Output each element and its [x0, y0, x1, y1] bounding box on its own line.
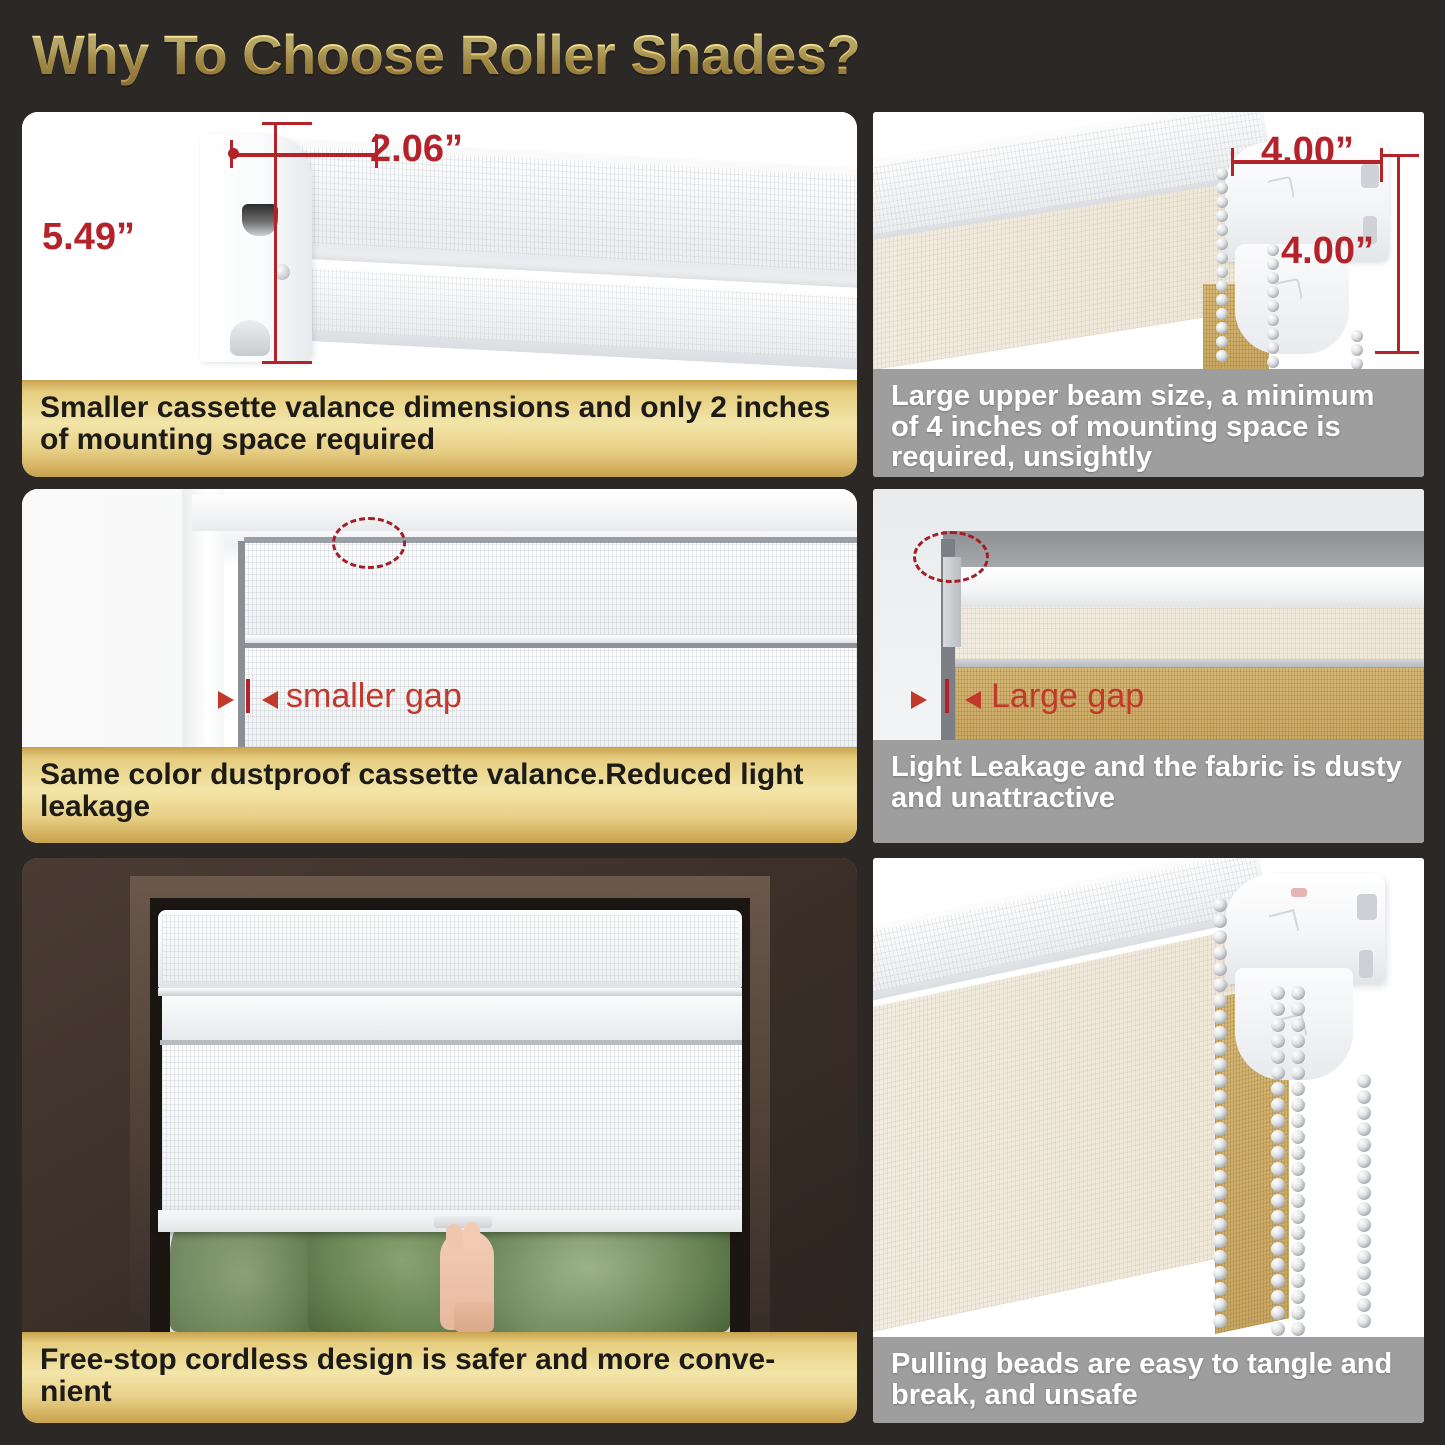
gap-label: Large gap [991, 677, 1144, 716]
bead-chain-2 [1267, 244, 1279, 369]
shade-fabric-cream [955, 607, 1424, 659]
top-shadow-band [943, 531, 1424, 569]
height-dim-line [274, 122, 277, 364]
width-dim-tick-left [1231, 148, 1234, 176]
cassette-lower-lip [244, 635, 857, 643]
panel-1-caption: Smaller cassette valance dimensions and … [22, 380, 857, 477]
gap-arrow-left-icon [911, 691, 927, 709]
bottom-rail [953, 659, 1424, 667]
panel-1: 2.06” 5.49” Smaller cassette valance dim… [22, 112, 857, 477]
panel-2: 4.00” 4.00” Large upper beam size, a min… [873, 112, 1424, 477]
bead-chain-3 [1291, 986, 1305, 1334]
panel-6-caption: Pulling beads are easy to tangle and bre… [873, 1337, 1424, 1423]
hand-finger-1 [446, 1224, 462, 1250]
cassette-face [244, 543, 857, 635]
panel-2-photo: 4.00” 4.00” [873, 112, 1424, 369]
bracket-slot-icon-2 [1359, 950, 1373, 978]
window-frame-header [192, 495, 857, 531]
panel-6: Pulling beads are easy to tangle and bre… [873, 858, 1424, 1423]
gap-marker-line [945, 679, 949, 713]
width-dimension-label: 4.00” [1261, 130, 1354, 173]
panel-5-caption: Free-stop cordless design is safer and m… [22, 1332, 857, 1423]
bracket-pink-tab-icon [1291, 888, 1307, 897]
panel-5-photo [22, 858, 857, 1332]
bracket-slot-icon-1 [1361, 164, 1379, 188]
gap-label: smaller gap [286, 677, 462, 716]
roller-tube [943, 567, 1424, 609]
panel-1-photo: 2.06” 5.49” [22, 112, 857, 380]
bead-chain-4 [1357, 1074, 1371, 1334]
bracket-lower-clip-icon [230, 320, 270, 356]
bead-chain-1 [1216, 168, 1228, 368]
height-dim-tick-bottom [1375, 351, 1419, 354]
panel-3: smaller gap Same color dustproof cassett… [22, 489, 857, 843]
panel-6-photo [873, 858, 1424, 1337]
gap-marker-line [246, 679, 250, 713]
panel-5: Free-stop cordless design is safer and m… [22, 858, 857, 1423]
infographic-page: Why To Choose Roller Shades? 2.06” [0, 0, 1445, 1445]
gap-arrow-left-icon [218, 691, 234, 709]
highlight-circle-icon [913, 531, 989, 583]
panel-4-photo: Large gap [873, 489, 1424, 740]
hand-finger-2 [464, 1222, 480, 1250]
height-dim-tick-bottom [262, 361, 312, 364]
width-dim-tick-left [230, 140, 233, 168]
bead-chain-1 [1213, 898, 1227, 1328]
panel-4: Large gap Light Leakage and the fabric i… [873, 489, 1424, 843]
gap-arrow-right-icon [262, 691, 278, 709]
shade-left-gap [238, 541, 245, 747]
width-dim-line [230, 153, 378, 157]
panel-4-caption: Light Leakage and the fabric is dusty an… [873, 740, 1424, 843]
panel-2-caption: Large upper beam size, a minimum of 4 in… [873, 369, 1424, 477]
roller-tube [162, 996, 742, 1040]
panel-3-caption: Same color dustproof cassette valance.Re… [22, 747, 857, 843]
cassette-valance-texture [162, 914, 738, 982]
height-dimension-label: 4.00” [1281, 230, 1374, 273]
height-dim-tick-top [262, 122, 312, 125]
shade-fabric [162, 1045, 742, 1225]
gap-arrow-right-icon [965, 691, 981, 709]
hand-wrist [454, 1302, 494, 1332]
width-dimension-label: 2.06” [370, 128, 463, 171]
height-dim-line [1397, 154, 1400, 354]
bead-chain-2 [1271, 986, 1285, 1334]
panel-3-photo: smaller gap [22, 489, 857, 747]
bracket-slot-icon-1 [1357, 894, 1377, 920]
height-dim-tick-top [1383, 154, 1419, 157]
bead-chain-3 [1351, 330, 1363, 369]
height-dimension-label: 5.49” [42, 216, 135, 259]
bottom-rail-grip [434, 1216, 492, 1228]
highlight-circle-icon [332, 517, 406, 569]
bracket-slot-icon [242, 204, 278, 236]
cassette-lip [158, 988, 742, 996]
page-title: Why To Choose Roller Shades? [32, 22, 860, 87]
